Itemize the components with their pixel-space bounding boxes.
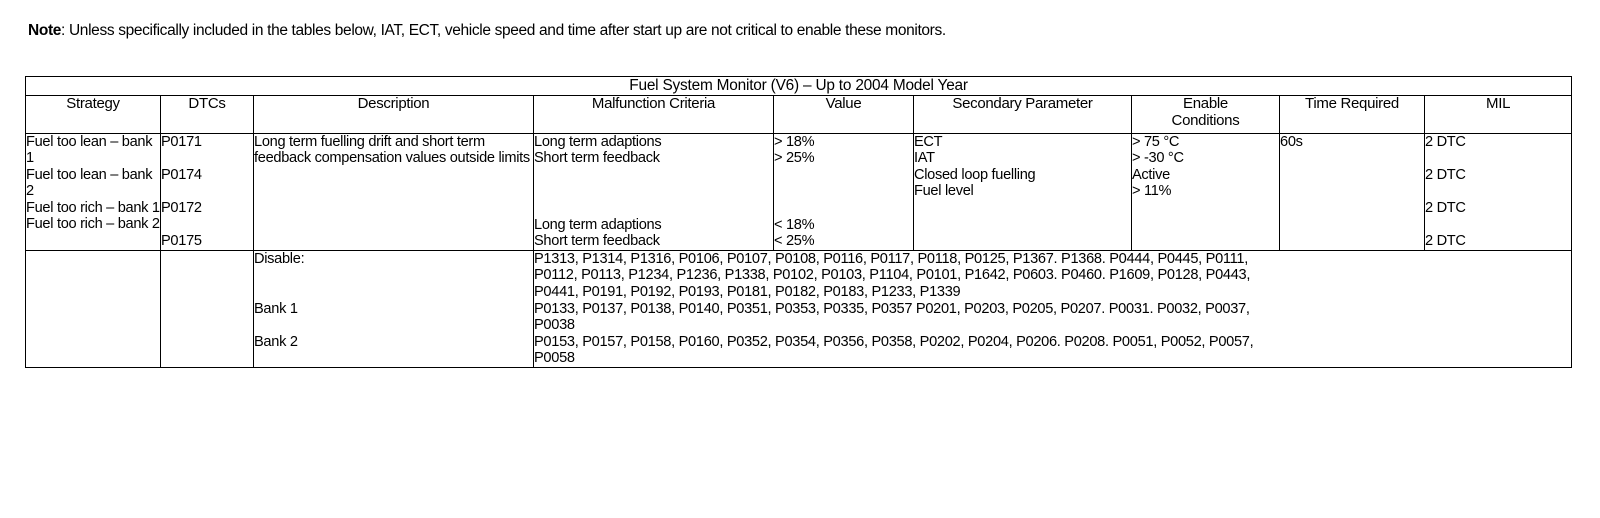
dtc-group-row-bank-1: Bank 1 P0133, P0137, P0138, P0140, P0351… [26,301,1572,334]
note-text: : Unless specifically included in the ta… [61,22,946,39]
cell-strategy-list: Fuel too lean – bank 1 Fuel too lean – b… [26,133,161,250]
cell-empty-strategy [26,301,161,334]
secondary-parameter-item: Fuel level [914,183,1131,200]
spacer [1425,183,1571,200]
value-item: > 18% [774,134,913,151]
enable-condition-item: Active [1132,167,1279,184]
cell-time-required: 60s [1280,133,1425,250]
note-paragraph: Note: Unless specifically included in th… [28,22,946,40]
enable-condition-item: > -30 °C [1132,150,1279,167]
dtc-list-line: P0038 [534,317,1571,334]
secondary-parameter-item: IAT [914,150,1131,167]
malfunction-criteria-item: Short term feedback [534,150,773,167]
cell-empty-dtcs [161,334,254,368]
secondary-parameter-item: Closed loop fuelling [914,167,1131,184]
table-title: Fuel System Monitor (V6) – Up to 2004 Mo… [26,77,1572,96]
strategy-item: Fuel too lean – bank 1 [26,134,160,167]
strategy-item: Fuel too rich – bank 2 [26,216,160,233]
dtc-group-row-disable: Disable: P1313, P1314, P1316, P0106, P01… [26,250,1572,300]
spacer [161,150,253,167]
value-item: < 18% [774,217,913,234]
column-header-time-required: Time Required [1280,96,1425,134]
spacer [774,183,913,200]
malfunction-criteria-item: Long term adaptions [534,217,773,234]
column-header-value: Value [774,96,914,134]
strategy-item: Fuel too rich – bank 1 [26,200,160,217]
mil-item: 2 DTC [1425,167,1571,184]
mil-item: 2 DTC [1425,200,1571,217]
value-item: > 25% [774,150,913,167]
cell-description: Long term fuelling drift and short term … [254,133,534,250]
spacer [161,183,253,200]
cell-dtc-list: P0171 P0174 P0172 P0175 [161,133,254,250]
spacer [534,200,773,217]
cell-enable-conditions: > 75 °C > -30 °C Active > 11% [1132,133,1280,250]
mil-item: 2 DTC [1425,233,1571,250]
enable-condition-item: > 75 °C [1132,134,1279,151]
dtc-code: P0171 [161,134,253,151]
table-title-row: Fuel System Monitor (V6) – Up to 2004 Mo… [26,77,1572,96]
cell-malfunction-criteria: Long term adaptions Short term feedback … [534,133,774,250]
dtc-list-line: P0058 [534,350,1571,367]
spacer [1425,216,1571,233]
mil-item: 2 DTC [1425,134,1571,151]
spacer [534,183,773,200]
column-header-enable-conditions: Enable Conditions [1132,96,1280,134]
dtc-group-list-bank-1: P0133, P0137, P0138, P0140, P0351, P0353… [534,301,1572,334]
cell-empty-dtcs [161,250,254,300]
enable-conditions-line-1: Enable [1132,96,1279,113]
secondary-parameter-item: ECT [914,134,1131,151]
dtc-group-label-bank-2: Bank 2 [254,334,534,368]
dtc-group-row-bank-2: Bank 2 P0153, P0157, P0158, P0160, P0352… [26,334,1572,368]
enable-condition-item: > 11% [1132,183,1279,200]
note-label: Note [28,22,61,39]
column-header-mil: MIL [1425,96,1572,134]
malfunction-criteria-item: Short term feedback [534,233,773,250]
enable-conditions-line-2: Conditions [1132,113,1279,130]
column-header-secondary-parameter: Secondary Parameter [914,96,1132,134]
dtc-list-line: P0112, P0113, P1234, P1236, P1338, P0102… [534,267,1571,284]
spacer [161,216,253,233]
dtc-list-line: P1313, P1314, P1316, P0106, P0107, P0108… [534,251,1571,268]
dtc-code: P0172 [161,200,253,217]
dtc-list-line: P0153, P0157, P0158, P0160, P0352, P0354… [534,334,1571,351]
dtc-list-line: P0133, P0137, P0138, P0140, P0351, P0353… [534,301,1571,318]
spacer [534,167,773,184]
fuel-system-monitor-table: Fuel System Monitor (V6) – Up to 2004 Mo… [25,76,1572,368]
table-header-row: Strategy DTCs Description Malfunction Cr… [26,96,1572,134]
value-item: < 25% [774,233,913,250]
spacer [774,167,913,184]
column-header-description: Description [254,96,534,134]
dtc-group-list-bank-2: P0153, P0157, P0158, P0160, P0352, P0354… [534,334,1572,368]
cell-secondary-parameter: ECT IAT Closed loop fuelling Fuel level [914,133,1132,250]
column-header-dtcs: DTCs [161,96,254,134]
strategy-item: Fuel too lean – bank 2 [26,167,160,200]
table-body-row: Fuel too lean – bank 1 Fuel too lean – b… [26,133,1572,250]
cell-mil-list: 2 DTC 2 DTC 2 DTC 2 DTC [1425,133,1572,250]
dtc-group-label-disable: Disable: [254,250,534,300]
cell-empty-dtcs [161,301,254,334]
spacer [1425,150,1571,167]
cell-value: > 18% > 25% < 18% < 25% [774,133,914,250]
column-header-malfunction-criteria: Malfunction Criteria [534,96,774,134]
dtc-group-label-bank-1: Bank 1 [254,301,534,334]
dtc-code: P0174 [161,167,253,184]
column-header-strategy: Strategy [26,96,161,134]
malfunction-criteria-item: Long term adaptions [534,134,773,151]
cell-empty-strategy [26,334,161,368]
cell-empty-strategy [26,250,161,300]
spacer [774,200,913,217]
dtc-code: P0175 [161,233,253,250]
dtc-group-list-disable: P1313, P1314, P1316, P0106, P0107, P0108… [534,250,1572,300]
dtc-list-line: P0441, P0191, P0192, P0193, P0181, P0182… [534,284,1571,301]
fuel-system-monitor-table-wrapper: Fuel System Monitor (V6) – Up to 2004 Mo… [25,76,1571,368]
